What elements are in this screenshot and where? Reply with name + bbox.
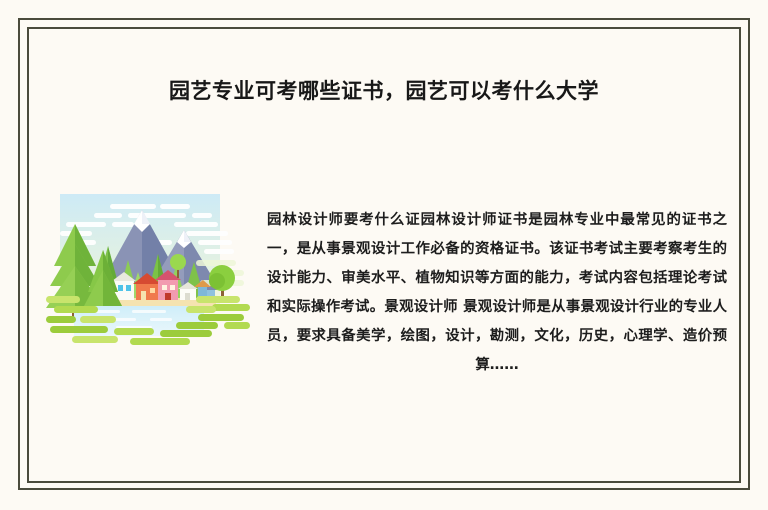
- article-body-text: 园林设计师要考什么证园林设计师证书是园林专业中最常见的证书之一，是从事景观设计工…: [267, 206, 727, 380]
- page-title: 园艺专业可考哪些证书，园艺可以考什么大学: [0, 74, 768, 108]
- flat-landscape-village-illustration: [46, 188, 250, 348]
- document-page: 园艺专业可考哪些证书，园艺可以考什么大学: [0, 0, 768, 510]
